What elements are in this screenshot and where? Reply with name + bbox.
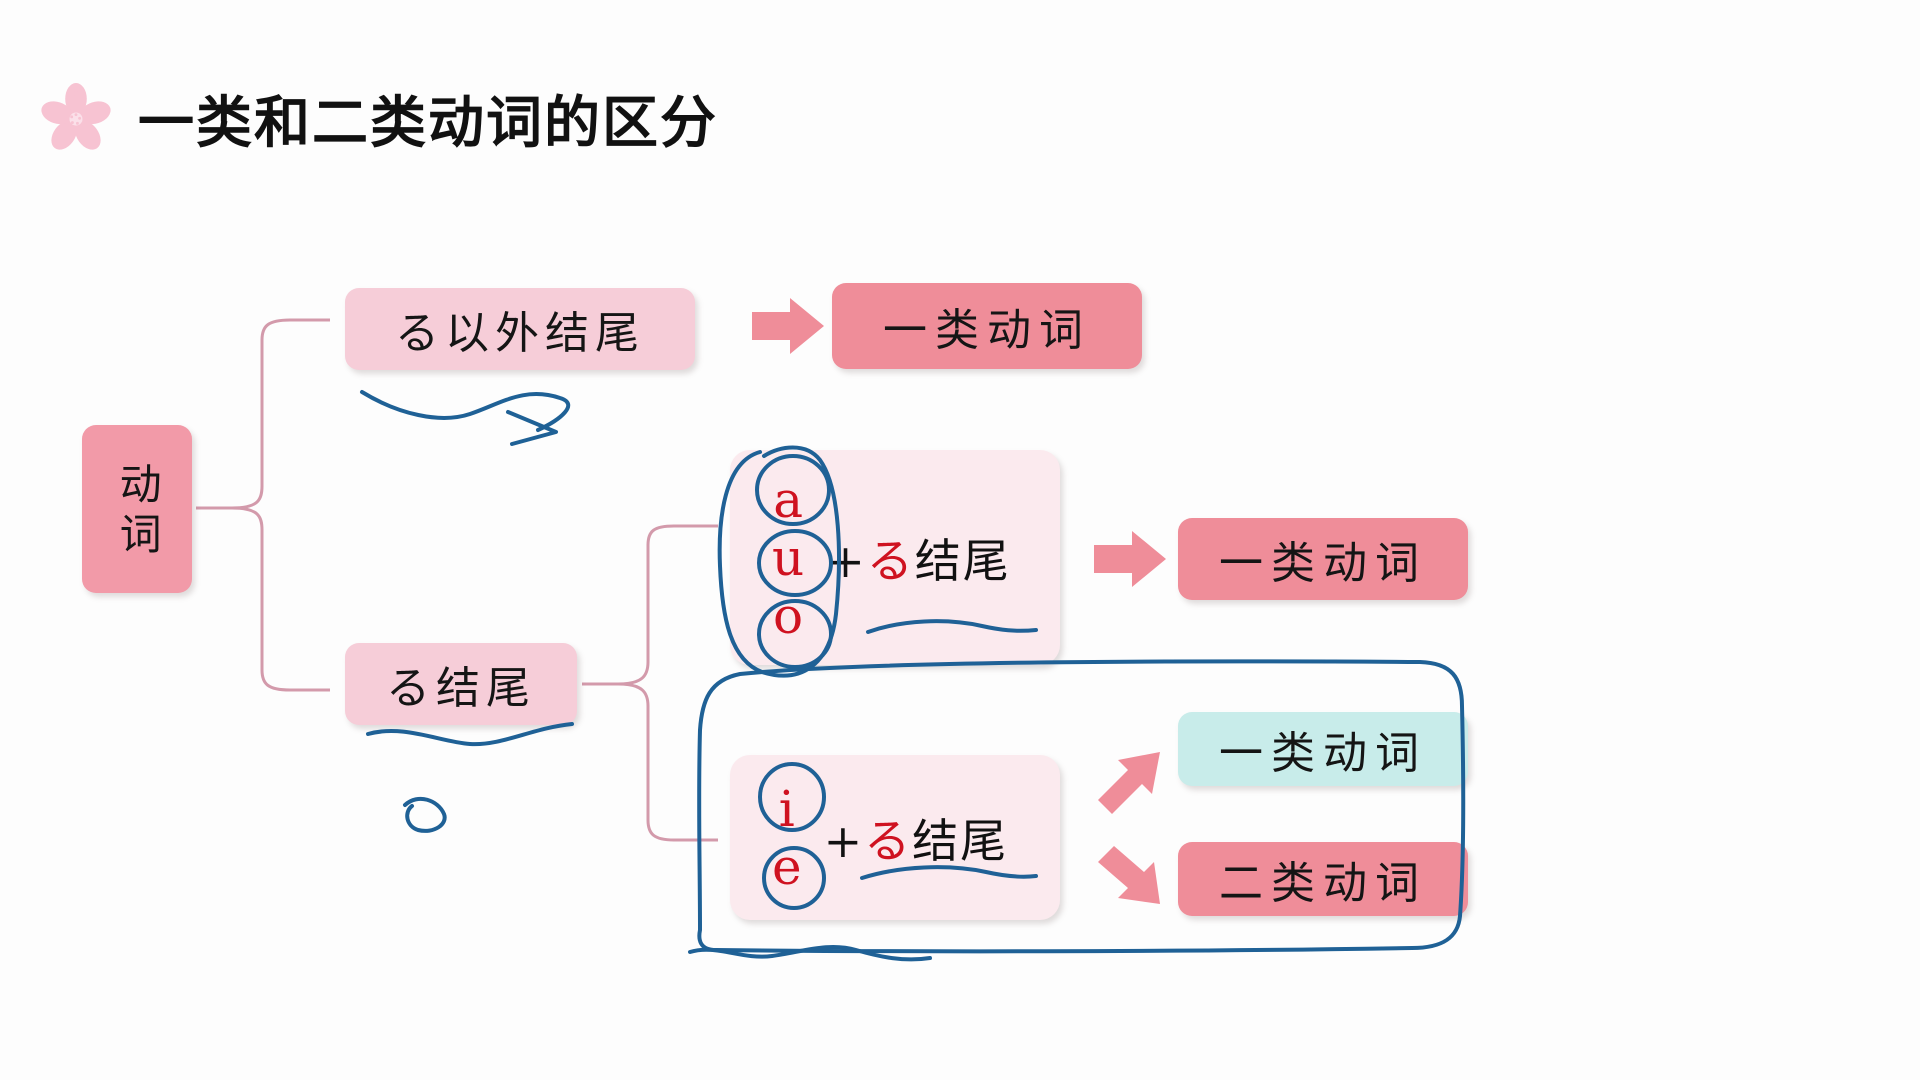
node-condition-ru-igai[interactable]: る以外结尾: [345, 288, 695, 370]
node-result-type2-bottom[interactable]: 二类动词: [1178, 842, 1468, 916]
kana-ru: る: [867, 534, 915, 588]
sakura-flower-icon: [40, 82, 112, 156]
suffix-label-auo: +る结尾: [826, 525, 1011, 591]
node-vowel-group-ie[interactable]: i e +る结尾: [730, 755, 1060, 920]
node-condition-ru[interactable]: る结尾: [345, 643, 577, 725]
arrow-to-result-3: [1098, 752, 1160, 814]
vowel-letter-o: o: [773, 590, 803, 642]
vowel-stack-auo: a u o: [772, 474, 804, 642]
vowel-stack-ie: i e: [772, 783, 802, 893]
node-vowel-group-auo[interactable]: a u o +る结尾: [730, 450, 1060, 665]
kana-ru: る: [864, 814, 912, 868]
page-title: 一类和二类动词的区分: [138, 78, 718, 159]
suffix-tail: 结尾: [912, 814, 1008, 868]
suffix-tail: 结尾: [915, 534, 1011, 588]
vowel-letter-i: i: [779, 783, 795, 835]
arrow-to-result-1: [752, 298, 824, 354]
arrow-to-result-4: [1098, 846, 1160, 904]
slide-canvas: 一类和二类动词的区分 动词 る以外结尾 る结尾 一类动词: [0, 0, 1920, 1080]
vowel-letter-a: a: [773, 474, 803, 526]
suffix-label-ie: +る结尾: [824, 805, 1009, 871]
arrow-head-ru-igai: [508, 412, 556, 444]
arrow-to-result-2: [1094, 531, 1166, 587]
node-result-type1-middle[interactable]: 一类动词: [1178, 518, 1468, 600]
underline-squiggle-ru: [368, 724, 572, 744]
underline-wave-bottom: [690, 947, 930, 959]
node-result-type1-bottom[interactable]: 一类动词: [1178, 712, 1468, 786]
node-root-verb[interactable]: 动词: [82, 425, 192, 593]
vowel-letter-e: e: [772, 841, 802, 893]
plus-sign: +: [826, 534, 867, 588]
node-result-type1-top[interactable]: 一类动词: [832, 283, 1142, 369]
plus-sign: +: [824, 814, 865, 868]
page-title-row: 一类和二类动词的区分: [40, 78, 718, 159]
underline-squiggle-ru-igai: [362, 392, 568, 430]
vowel-letter-u: u: [772, 532, 804, 584]
arrow-head-ru: [405, 799, 445, 831]
